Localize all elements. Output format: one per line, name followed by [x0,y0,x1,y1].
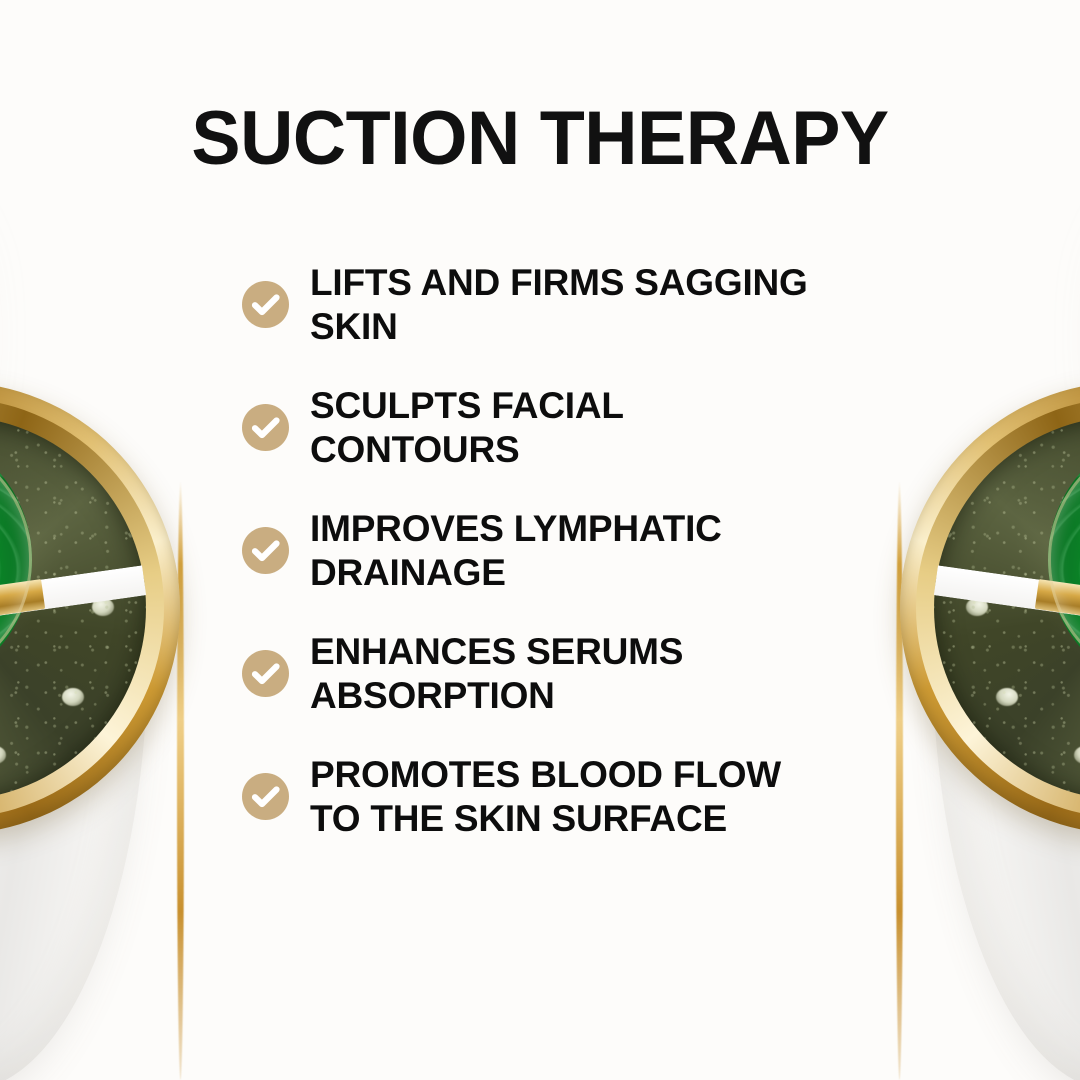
check-icon [242,527,289,574]
benefit-label: PROMOTES BLOOD FLOW TO THE SKIN SURFACE [310,753,781,841]
check-icon [242,404,289,451]
benefit-label: IMPROVES LYMPHATIC DRAINAGE [310,507,722,595]
check-icon [242,281,289,328]
benefit-label: LIFTS AND FIRMS SAGGING SKIN [310,261,808,349]
benefit-list: LIFTS AND FIRMS SAGGING SKIN SCULPTS FAC… [242,243,882,858]
check-icon [242,650,289,697]
benefit-item-sculpts-facial-contours: SCULPTS FACIAL CONTOURS [242,366,882,489]
benefit-item-enhances-serums-absorption: ENHANCES SERUMS ABSORPTION [242,612,882,735]
benefit-item-lifts-and-firms-sagging-skin: LIFTS AND FIRMS SAGGING SKIN [242,243,882,366]
check-icon [242,773,289,820]
page-title: SUCTION THERAPY [16,100,1064,178]
benefit-item-improves-lymphatic-drainage: IMPROVES LYMPHATIC DRAINAGE [242,489,882,612]
benefit-label: SCULPTS FACIAL CONTOURS [310,384,624,472]
poster-canvas: SUCTION THERAPY LIFTS AND FIRMS SAGGING … [0,0,1080,1080]
benefit-item-promotes-blood-flow-skin-surface: PROMOTES BLOOD FLOW TO THE SKIN SURFACE [242,735,882,858]
content-layer: SUCTION THERAPY LIFTS AND FIRMS SAGGING … [0,0,1080,1080]
benefit-label: ENHANCES SERUMS ABSORPTION [310,630,683,718]
